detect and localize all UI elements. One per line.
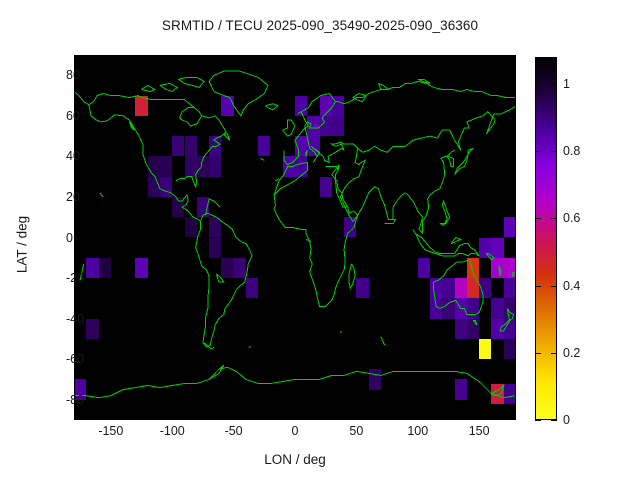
colorbar-tick-mark	[535, 84, 541, 85]
colorbar-tick-label: 0.8	[563, 144, 580, 158]
colorbar-tick-mark	[551, 286, 557, 287]
x-tick-label: 150	[469, 424, 490, 438]
chart-title: SRMTID / TECU 2025-090_35490-2025-090_36…	[0, 18, 640, 33]
coastline-path	[349, 264, 355, 288]
colorbar-tick-mark	[551, 84, 557, 85]
coastline-path	[385, 219, 396, 223]
coastline-path	[209, 71, 268, 116]
colorbar-tick-label: 0.4	[563, 279, 580, 293]
y-tick-label: -40	[66, 312, 84, 326]
y-tick-label: 40	[66, 149, 80, 163]
coastline-path	[74, 365, 224, 397]
colorbar-tick-mark	[551, 151, 557, 152]
coastline-path	[451, 238, 461, 244]
coastline-path	[219, 367, 516, 397]
coastline-path	[473, 321, 477, 325]
coastline-path	[440, 201, 450, 225]
map-plot-area[interactable]	[74, 55, 516, 420]
coastline-path	[455, 148, 473, 174]
coastline-path	[487, 254, 494, 260]
coastline-path	[434, 260, 483, 315]
y-tick-label: 60	[66, 109, 80, 123]
x-tick-label: 0	[292, 424, 299, 438]
coastline-path	[266, 104, 278, 110]
coastline-path	[142, 85, 156, 91]
coastline-path	[160, 83, 177, 91]
colorbar-tick-mark	[551, 218, 557, 219]
coastline-path	[500, 309, 514, 331]
coastline-path	[176, 116, 226, 187]
y-axis-label: LAT / deg	[15, 145, 30, 345]
colorbar-tick-mark	[551, 353, 557, 354]
coastline-path	[379, 83, 389, 89]
y-tick-label: -60	[66, 352, 84, 366]
colorbar-tick-mark	[535, 353, 541, 354]
colorbar-tick-mark	[535, 151, 541, 152]
colorbar-tick-mark	[535, 286, 541, 287]
coastline-path	[340, 148, 454, 233]
coastline-path	[340, 331, 341, 333]
colorbar-tick-label: 1	[563, 77, 570, 91]
coastline-path	[381, 337, 385, 345]
coastline-path	[512, 272, 516, 276]
colorbar-tick-mark	[535, 420, 541, 421]
coastline-path	[275, 179, 279, 181]
coastline-path	[306, 150, 307, 156]
x-tick-label: 100	[407, 424, 428, 438]
colorbar[interactable]	[535, 57, 557, 420]
coastline-path	[358, 106, 516, 153]
coastline-path	[89, 105, 201, 222]
coastline-path	[224, 134, 230, 140]
coastline-path	[100, 193, 104, 197]
y-tick-label: 20	[66, 190, 80, 204]
coastline-path	[274, 163, 307, 195]
coastline-path	[74, 92, 89, 105]
coastline-path	[261, 158, 265, 160]
colorbar-tick-label: 0	[563, 413, 570, 427]
coastline-overlay	[74, 55, 516, 420]
y-tick-label: -20	[66, 271, 84, 285]
colorbar-tick-label: 0.6	[563, 211, 580, 225]
colorbar-tick-mark	[535, 218, 541, 219]
coastline-path	[284, 94, 358, 165]
x-axis-label: LON / deg	[74, 452, 516, 467]
coastline-path	[336, 81, 517, 103]
x-tick-label: -150	[98, 424, 123, 438]
coastline-path	[283, 120, 295, 136]
coastline-path	[298, 112, 302, 114]
coastline-path	[196, 213, 252, 347]
colorbar-tick-mark	[551, 420, 557, 421]
colorbar-gradient	[536, 58, 556, 419]
coastline-path	[499, 266, 502, 276]
colorbar-tick-label: 0.2	[563, 346, 580, 360]
coastline-path	[216, 274, 223, 282]
x-tick-label: -50	[225, 424, 243, 438]
y-tick-label: 80	[66, 68, 80, 82]
y-tick-label: 0	[66, 231, 73, 245]
x-tick-label: 50	[349, 424, 363, 438]
x-tick-label: -100	[160, 424, 185, 438]
y-tick-label: -80	[66, 393, 84, 407]
coastline-path	[178, 77, 204, 87]
coastline-path	[491, 386, 503, 396]
